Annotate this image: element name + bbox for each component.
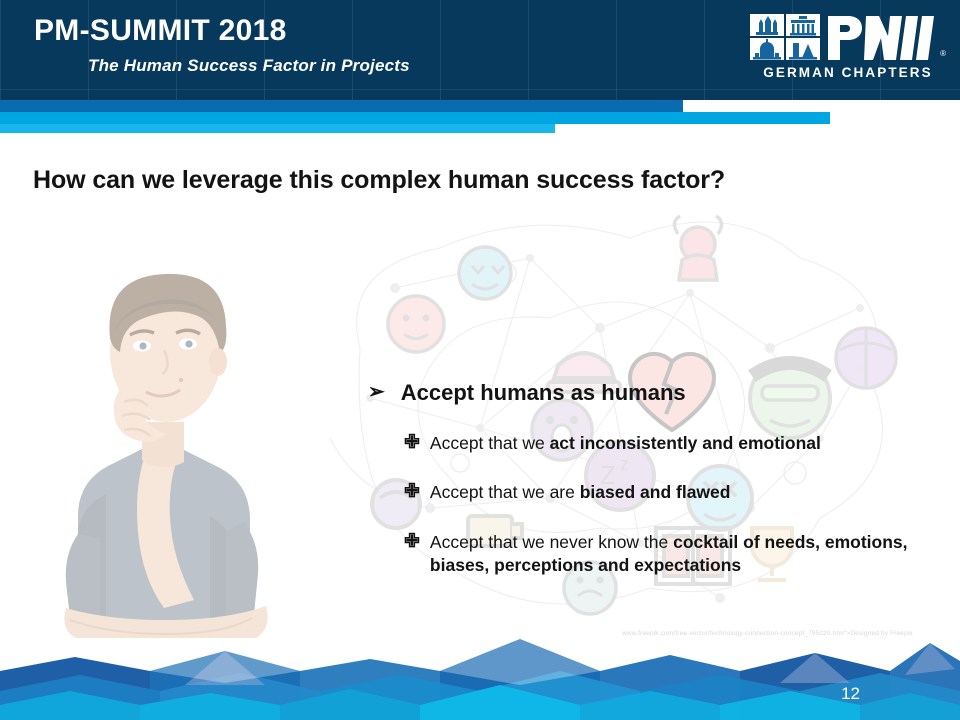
church-dome-icon: [750, 38, 784, 60]
accent-band-light: [0, 124, 555, 133]
page-title: How can we leverage this complex human s…: [33, 166, 725, 195]
bullet-sub-1: ✙ Accept that we act inconsistently and …: [404, 432, 938, 455]
brandenburg-gate-icon: [786, 14, 820, 36]
plus-bullet-icon: ✙: [404, 481, 420, 504]
pmi-wordmark: ®: [826, 14, 938, 62]
slide-header: PM-SUMMIT 2018 The Human Success Factor …: [0, 0, 960, 100]
tower-skyline-icon: [786, 38, 820, 60]
event-subtitle: The Human Success Factor in Projects: [88, 57, 410, 74]
thinking-man-photo: [42, 216, 280, 638]
accent-band-dark: [0, 100, 683, 112]
pmi-logo: ® GERMAN CHAPTERS: [750, 14, 946, 84]
page-number: 12: [841, 685, 860, 702]
pmi-logo-mark: ®: [750, 14, 946, 62]
arrow-bullet-icon: ➢: [368, 380, 385, 405]
bullet-main: ➢ Accept humans as humans: [368, 380, 938, 406]
bullet-main-label: Accept humans as humans: [401, 380, 686, 406]
bullet-sub-2-text: Accept that we are biased and flawed: [430, 481, 731, 504]
accent-band-mid: [0, 112, 830, 124]
bullet-sub-2: ✙ Accept that we are biased and flawed: [404, 481, 938, 504]
pmi-logo-building-grid: [750, 14, 820, 60]
bullet-list: ➢ Accept humans as humans ✙ Accept that …: [368, 380, 938, 577]
plus-bullet-icon: ✙: [404, 531, 420, 554]
slide: PM-SUMMIT 2018 The Human Success Factor …: [0, 0, 960, 720]
registered-mark: ®: [940, 49, 946, 58]
cathedral-icon: [750, 14, 784, 36]
bullet-sub-3-text: Accept that we never know the cocktail o…: [430, 531, 930, 577]
plus-bullet-icon: ✙: [404, 432, 420, 455]
bottom-wave-decoration: 12: [0, 625, 960, 720]
pmi-logo-caption: GERMAN CHAPTERS: [750, 65, 946, 80]
bullet-sub-1-text: Accept that we act inconsistently and em…: [430, 432, 821, 455]
event-title: PM-SUMMIT 2018: [34, 16, 287, 46]
bullet-sub-3: ✙ Accept that we never know the cocktail…: [404, 531, 938, 577]
